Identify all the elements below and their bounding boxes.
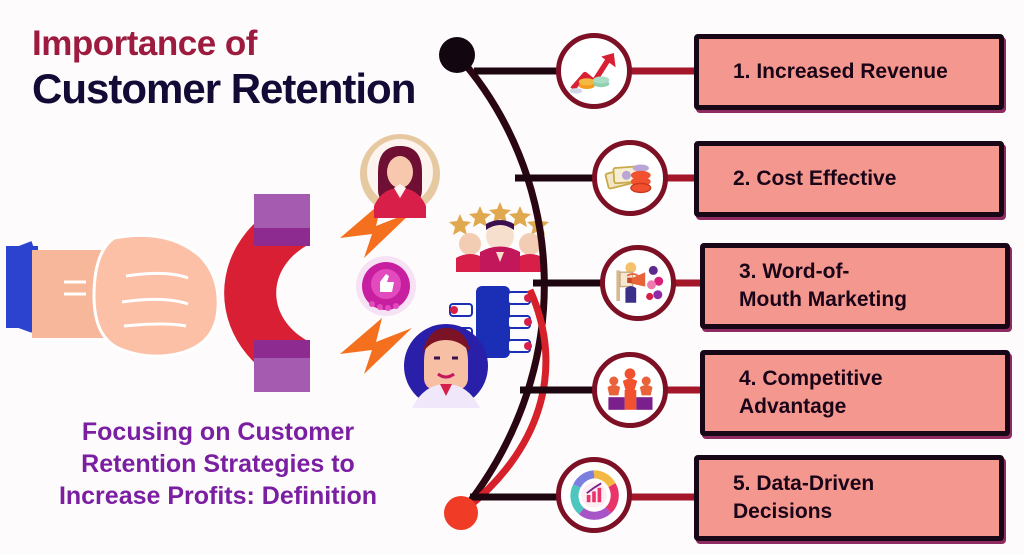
- money-cash-coins-icon: [603, 151, 657, 205]
- item-label-line1: 5. Data-Driven: [733, 472, 874, 495]
- podium-second: [608, 397, 624, 410]
- spine-arc: [458, 56, 544, 512]
- spine-arc-lower: [462, 290, 546, 512]
- item-label-line2: Decisions: [733, 498, 874, 526]
- caption-line-1: Focusing on Customer: [8, 416, 428, 448]
- item-label-line2: Mouth Marketing: [739, 286, 907, 314]
- spine-bottom-node: [444, 496, 478, 530]
- item-label: 5. Data-Driven Decisions: [733, 470, 874, 525]
- megaphone-presenter-icon: [611, 256, 665, 310]
- caption-line-3: Increase Profits: Definition: [8, 480, 428, 512]
- audience-people: [646, 266, 663, 300]
- podium-third: [636, 397, 652, 410]
- podium-first: [625, 390, 637, 410]
- caption-line-2: Retention Strategies to: [8, 448, 428, 480]
- footer-caption: Focusing on Customer Retention Strategie…: [8, 416, 428, 512]
- item-label: 2. Cost Effective: [733, 165, 896, 193]
- spine-top-node: [439, 37, 475, 73]
- icon-circle-increased-revenue[interactable]: [556, 33, 632, 109]
- item-label: 3. Word-of- Mouth Marketing: [739, 258, 907, 313]
- item-label-line2: Advantage: [739, 393, 883, 421]
- infographic-canvas: Importance of Customer Retention: [0, 0, 1024, 555]
- item-label-line1: 3. Word-of-: [739, 260, 849, 283]
- item-box-increased-revenue[interactable]: 1. Increased Revenue: [694, 34, 1004, 110]
- icon-circle-cost-effective[interactable]: [592, 140, 668, 216]
- icon-circle-data-driven-decisions[interactable]: [556, 457, 632, 533]
- item-label: 4. Competitive Advantage: [739, 365, 883, 420]
- item-box-competitive-advantage[interactable]: 4. Competitive Advantage: [700, 350, 1010, 436]
- item-box-data-driven-decisions[interactable]: 5. Data-Driven Decisions: [694, 455, 1004, 541]
- item-box-cost-effective[interactable]: 2. Cost Effective: [694, 141, 1004, 217]
- revenue-growth-chart-icon: [567, 44, 621, 98]
- item-box-word-of-mouth-marketing[interactable]: 3. Word-of- Mouth Marketing: [700, 243, 1010, 329]
- item-label-line1: 2. Cost Effective: [733, 167, 896, 190]
- coin-stack: [631, 165, 651, 193]
- icon-circle-word-of-mouth[interactable]: [600, 245, 676, 321]
- icon-circle-competitive-advantage[interactable]: [592, 352, 668, 428]
- item-label-line1: 4. Competitive: [739, 367, 883, 390]
- donut-bar-chart-icon: [567, 468, 621, 522]
- item-label: 1. Increased Revenue: [733, 58, 948, 86]
- winners-podium-icon: [603, 363, 657, 417]
- item-label-line1: 1. Increased Revenue: [733, 60, 948, 83]
